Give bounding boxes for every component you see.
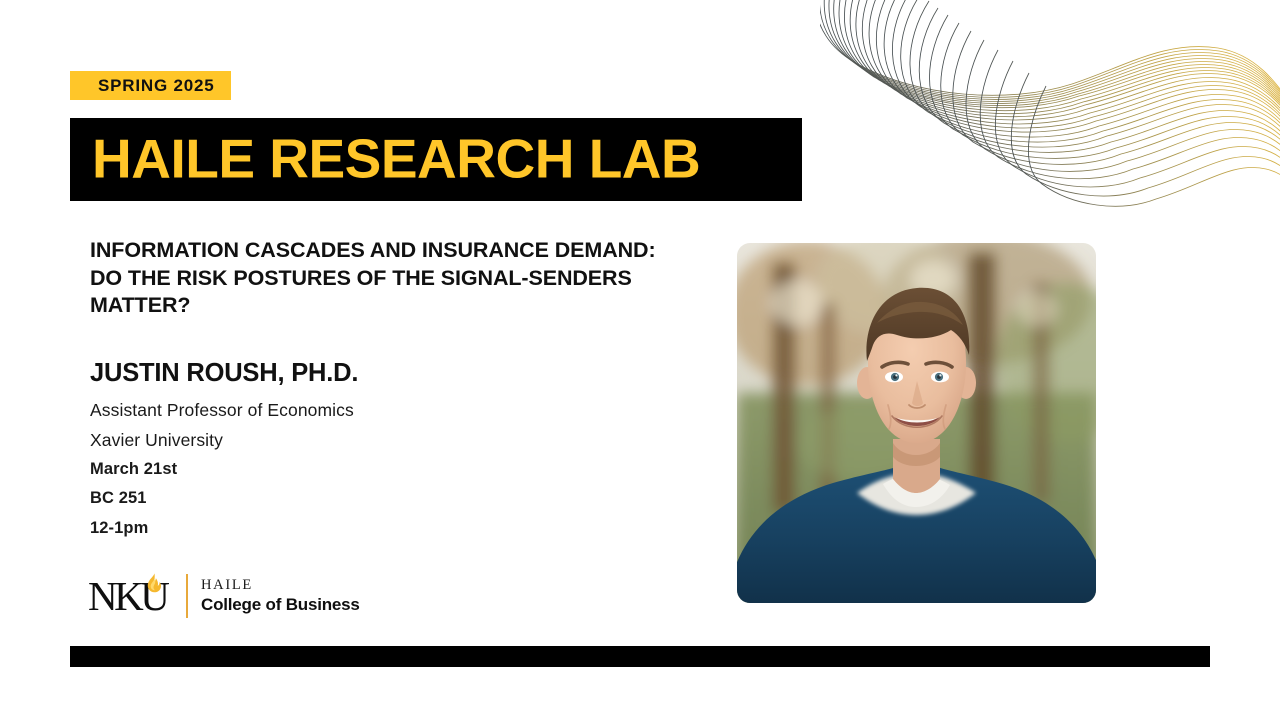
- lab-title-text: HAILE RESEARCH LAB: [92, 131, 700, 186]
- talk-title: INFORMATION CASCADES AND INSURANCE DEMAN…: [90, 237, 680, 320]
- speaker-details: JUSTIN ROUSH, PH.D. Assistant Professor …: [90, 358, 690, 543]
- logo-divider: [186, 574, 188, 618]
- presentation-slide: SPRING 2025 HAILE RESEARCH LAB INFORMATI…: [0, 0, 1280, 720]
- speaker-position: Assistant Professor of Economics: [90, 395, 690, 425]
- speaker-photo-image: [737, 243, 1096, 603]
- logo-college-text: HAILE College of Business: [201, 576, 360, 615]
- logo-college-line: College of Business: [201, 594, 360, 615]
- lab-title-bar: HAILE RESEARCH LAB: [70, 118, 802, 201]
- season-badge: SPRING 2025: [70, 71, 231, 100]
- nku-mark: NKU: [88, 571, 176, 621]
- speaker-name: JUSTIN ROUSH, PH.D.: [90, 358, 690, 390]
- event-location: BC 251: [90, 484, 690, 513]
- speaker-photo: [737, 243, 1096, 603]
- logo-haile-line: HAILE: [201, 576, 360, 594]
- nku-haile-logo: NKU HAILE College of Business: [88, 570, 360, 622]
- swirl-lines-decoration: [820, 0, 1280, 232]
- event-date: March 21st: [90, 455, 690, 484]
- speaker-affiliation: Xavier University: [90, 425, 690, 455]
- event-time: 12-1pm: [90, 514, 690, 543]
- flame-icon: [146, 573, 163, 597]
- bottom-rule-bar: [70, 646, 1210, 667]
